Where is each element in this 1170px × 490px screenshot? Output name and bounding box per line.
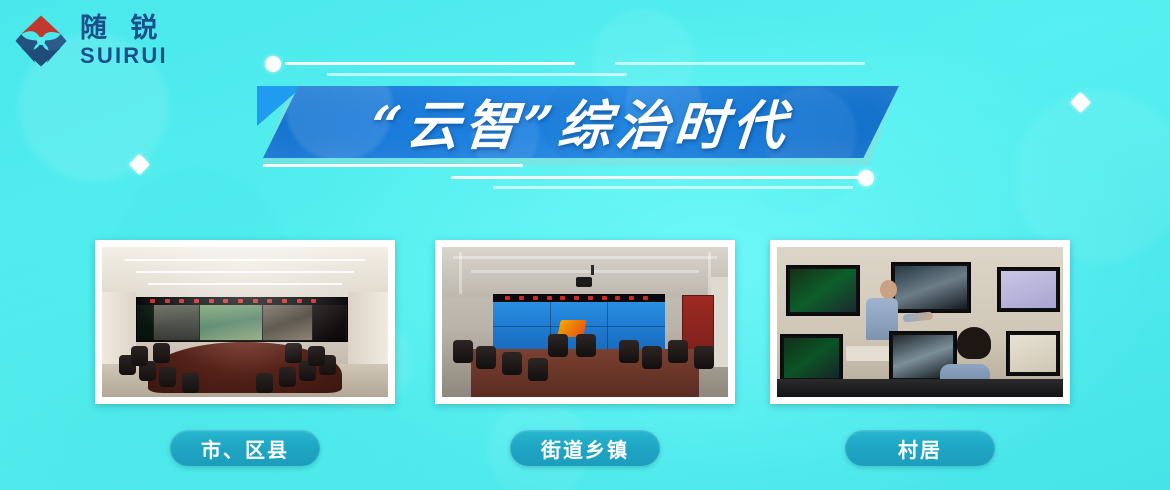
banner-dot-bottom-right <box>858 170 874 186</box>
photo-frame-1 <box>95 240 395 404</box>
suirui-logo-mark-icon <box>12 12 70 70</box>
photo1-light-glare <box>102 247 388 397</box>
photo3-desk <box>777 379 1063 397</box>
photo2-chair <box>642 346 662 369</box>
photo2-chair <box>668 340 688 363</box>
photo2-ceiling <box>442 247 728 298</box>
photo2-chair <box>576 334 596 357</box>
photo-frame-2 <box>435 240 735 404</box>
photo-card-row: 市、区县 <box>0 240 1170 490</box>
photo2-chair <box>453 340 473 363</box>
photo2-chair <box>619 340 639 363</box>
meeting-room-blue-screen-photo <box>442 247 728 397</box>
command-hall-video-wall-photo <box>102 247 388 397</box>
photo2-projector <box>576 277 592 287</box>
photo2-chair <box>502 352 522 375</box>
title-banner: “云智”综治时代 <box>255 52 955 197</box>
card-city-district[interactable]: 市、区县 <box>95 240 395 404</box>
card-label-street-town[interactable]: 街道乡镇 <box>510 430 660 466</box>
photo3-monitor-desk-1 <box>780 334 843 382</box>
card-label-village[interactable]: 村居 <box>845 430 995 466</box>
slide-root: 随 锐 SUIRUI “云智”综治时代 <box>0 0 1170 490</box>
photo2-beam-1 <box>453 256 716 259</box>
photo3-monitor-wall-1 <box>786 265 860 316</box>
photo2-projector-rod <box>591 265 594 275</box>
photo3-monitor-desk-3 <box>1006 331 1060 376</box>
diamond-left <box>129 154 150 175</box>
suirui-logo-wordmark: 随 锐 SUIRUI <box>80 15 168 67</box>
banner-ribbon: “云智”综治时代 <box>263 86 899 158</box>
photo2-chair <box>548 334 568 357</box>
diamond-right <box>1070 92 1091 113</box>
banner-dot-top-left <box>265 56 281 72</box>
photo2-chair <box>476 346 496 369</box>
monitoring-room-officer-photo <box>777 247 1063 397</box>
photo2-led-banner <box>493 294 665 303</box>
photo2-chair <box>528 358 548 381</box>
suirui-logo: 随 锐 SUIRUI <box>12 12 168 70</box>
banner-line-top-1 <box>285 62 575 65</box>
photo3-officer-arm <box>902 311 933 322</box>
photo3-operator-head <box>957 327 991 359</box>
photo-frame-3 <box>770 240 1070 404</box>
photo3-monitor-wall-2 <box>891 262 971 313</box>
card-label-city-district[interactable]: 市、区县 <box>170 430 320 466</box>
logo-english-text: SUIRUI <box>80 45 168 67</box>
banner-line-bottom-3 <box>493 186 853 189</box>
card-street-town[interactable]: 街道乡镇 <box>435 240 735 404</box>
banner-line-bottom-1 <box>263 164 523 167</box>
card-village[interactable]: 村居 <box>770 240 1070 404</box>
banner-line-top-3 <box>615 62 865 65</box>
photo2-beam-2 <box>471 270 700 273</box>
photo3-officer-head <box>880 280 897 299</box>
banner-line-top-2 <box>327 73 627 76</box>
banner-title-text: “云智”综治时代 <box>260 86 902 158</box>
banner-line-bottom-2 <box>451 176 871 179</box>
photo2-chair <box>694 346 714 369</box>
photo3-monitor-wall-3 <box>997 267 1060 312</box>
logo-chinese-text: 随 锐 <box>80 15 168 42</box>
photo2-beam-3 <box>459 252 462 294</box>
